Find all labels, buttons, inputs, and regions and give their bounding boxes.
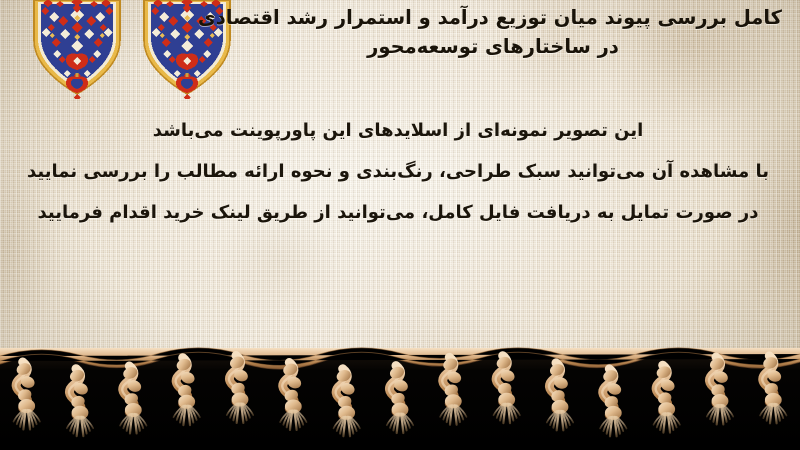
slide-body-line-3: در صورت تمایل به دریافت فایل کامل، می‌تو…	[10, 192, 786, 233]
carpet-fringe	[0, 342, 800, 450]
slide-body-line-2: با مشاهده آن می‌توانید سبک طراحی، رنگ‌بن…	[10, 151, 786, 192]
slide-body-line-1: این تصویر نمونه‌ای از اسلایدهای این پاور…	[10, 110, 786, 151]
slide-title-line-1: کامل بررسی پیوند میان توزیع درآمد و استم…	[204, 4, 782, 33]
slide-title-line-2: در ساختارهای توسعه‌محور	[204, 33, 782, 62]
slide-title: کامل بررسی پیوند میان توزیع درآمد و استم…	[204, 4, 782, 62]
ornament-medallion-left	[34, 0, 120, 99]
slide-body: این تصویر نمونه‌ای از اسلایدهای این پاور…	[10, 110, 786, 233]
slide-canvas: کامل بررسی پیوند میان توزیع درآمد و استم…	[0, 0, 800, 450]
